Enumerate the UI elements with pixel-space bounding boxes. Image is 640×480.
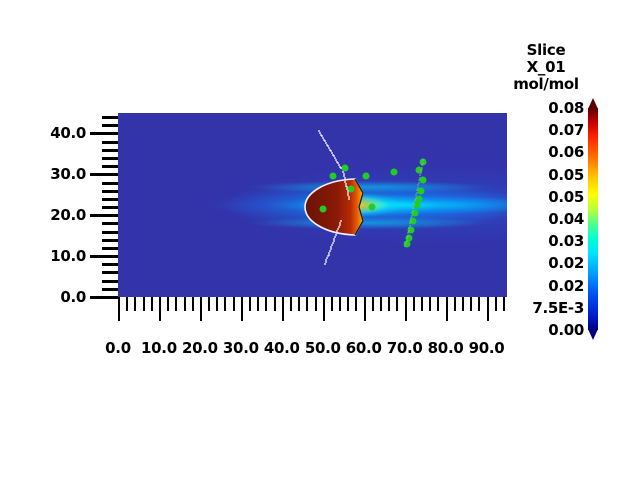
- shock-line-dot: [328, 147, 330, 149]
- y-axis-major-tick: [90, 296, 118, 299]
- y-axis-minor-tick: [102, 116, 118, 119]
- x-axis-minor-tick: [478, 297, 480, 311]
- x-axis-minor-tick: [388, 297, 390, 311]
- colorbar-gradient: [588, 108, 598, 330]
- x-axis-major-tick: [241, 297, 243, 321]
- x-axis-tick-label: 10.0: [141, 339, 177, 357]
- sample-point-marker: [368, 204, 375, 211]
- sample-point-marker: [329, 173, 336, 180]
- colorbar-tick-label: 0.07: [548, 121, 584, 139]
- y-axis-major-tick: [90, 255, 118, 258]
- shock-line-dot: [337, 162, 339, 164]
- x-axis-minor-tick: [167, 297, 169, 311]
- shock-line-dot: [322, 137, 324, 139]
- colorbar-tick-label: 0.04: [548, 210, 584, 228]
- colorbar-title-line-2: X_01: [505, 59, 587, 76]
- x-axis-minor-tick: [380, 297, 382, 311]
- x-axis-minor-tick: [257, 297, 259, 311]
- x-axis-tick-label: 50.0: [305, 339, 341, 357]
- overlay-marker-layer: [118, 113, 507, 297]
- y-axis-tick-label: 40.0: [50, 124, 86, 142]
- shock-line-dot: [332, 154, 334, 156]
- shock-line-dot: [335, 159, 337, 161]
- shock-line-dot: [339, 166, 341, 168]
- sample-point-marker: [362, 173, 369, 180]
- colorbar-title-line-1: Slice: [505, 42, 587, 59]
- sample-point-marker: [319, 206, 326, 213]
- colorbar: [586, 98, 600, 340]
- y-axis-tick-label: 10.0: [50, 247, 86, 265]
- shock-line-dot: [324, 263, 326, 265]
- x-axis-major-tick: [200, 297, 202, 321]
- y-axis-minor-tick: [102, 124, 118, 127]
- x-axis-minor-tick: [151, 297, 153, 311]
- x-axis-major-tick: [159, 297, 161, 321]
- y-axis-major-tick: [90, 214, 118, 217]
- sample-point-marker: [391, 169, 398, 176]
- y-axis-major-tick: [90, 132, 118, 135]
- shock-line-dot: [324, 140, 326, 142]
- x-axis-major-tick: [282, 297, 284, 321]
- y-axis-major-tick: [90, 173, 118, 176]
- y-axis-minor-tick: [102, 231, 118, 234]
- x-axis-tick-label: 40.0: [264, 339, 300, 357]
- colorbar-title: Slice X_01 mol/mol: [505, 42, 587, 93]
- x-axis-minor-tick: [175, 297, 177, 311]
- y-axis-minor-tick: [102, 288, 118, 291]
- y-axis-minor-tick: [102, 157, 118, 160]
- y-axis-minor-tick: [102, 165, 118, 168]
- shock-line-dot: [321, 135, 323, 137]
- x-axis-tick-label: 0.0: [105, 339, 131, 357]
- y-axis-minor-tick: [102, 239, 118, 242]
- shock-line-dot: [348, 198, 350, 200]
- x-axis-tick-label: 80.0: [428, 339, 464, 357]
- x-axis-minor-tick: [355, 297, 357, 311]
- x-axis-tick-label: 90.0: [469, 339, 505, 357]
- shock-line-dot: [320, 134, 322, 136]
- y-axis-minor-tick: [102, 182, 118, 185]
- shock-line-dot: [325, 142, 327, 144]
- colorbar-tick-label: 0.02: [548, 277, 584, 295]
- x-axis-minor-tick: [495, 297, 497, 311]
- slice-plot-area: [118, 113, 507, 297]
- colorbar-tick-label: 0.03: [548, 232, 584, 250]
- x-axis-major-tick: [364, 297, 366, 321]
- x-axis-minor-tick: [421, 297, 423, 311]
- y-axis-tick-label: 30.0: [50, 165, 86, 183]
- x-axis-minor-tick: [462, 297, 464, 311]
- shock-line-dot: [329, 149, 331, 151]
- x-axis-minor-tick: [306, 297, 308, 311]
- y-axis-minor-tick: [102, 149, 118, 152]
- x-axis-tick-label: 60.0: [346, 339, 382, 357]
- x-axis-minor-tick: [396, 297, 398, 311]
- x-axis-minor-tick: [208, 297, 210, 311]
- x-axis-major-tick: [405, 297, 407, 321]
- colorbar-tick-label: 0.00: [548, 321, 584, 339]
- x-axis-minor-tick: [126, 297, 128, 311]
- y-axis-minor-tick: [102, 271, 118, 274]
- colorbar-tick-label: 0.05: [548, 166, 584, 184]
- x-axis-minor-tick: [216, 297, 218, 311]
- colorbar-tick-label: 0.05: [548, 188, 584, 206]
- shock-line-dot: [319, 132, 321, 134]
- x-axis-minor-tick: [290, 297, 292, 311]
- shock-line-dot: [326, 144, 328, 146]
- x-axis-minor-tick: [454, 297, 456, 311]
- x-axis-minor-tick: [470, 297, 472, 311]
- x-axis-minor-tick: [315, 297, 317, 311]
- shock-line-dot: [334, 157, 336, 159]
- colorbar-title-line-3: mol/mol: [505, 76, 587, 93]
- sample-point-marker: [348, 185, 355, 192]
- x-axis-tick-label: 30.0: [223, 339, 259, 357]
- shock-line-dot: [331, 152, 333, 154]
- x-axis-minor-tick: [413, 297, 415, 311]
- x-axis-minor-tick: [143, 297, 145, 311]
- x-axis-major-tick: [323, 297, 325, 321]
- shock-line-dot: [323, 139, 325, 141]
- x-axis-minor-tick: [192, 297, 194, 311]
- y-axis-minor-tick: [102, 280, 118, 283]
- shock-line-dot: [333, 155, 335, 157]
- shock-line-dot: [318, 130, 320, 132]
- y-axis-tick-label: 0.0: [60, 288, 86, 306]
- x-axis-minor-tick: [429, 297, 431, 311]
- x-axis-major-tick: [487, 297, 489, 321]
- x-axis-minor-tick: [134, 297, 136, 311]
- x-axis-major-tick: [446, 297, 448, 321]
- rake-guide-dot: [404, 245, 406, 247]
- x-axis-minor-tick: [437, 297, 439, 311]
- y-axis-minor-tick: [102, 247, 118, 250]
- x-axis-minor-tick: [265, 297, 267, 311]
- colorbar-min-arrow-icon: [588, 329, 598, 340]
- x-axis-minor-tick: [274, 297, 276, 311]
- shock-line-dot: [340, 167, 342, 169]
- x-axis-minor-tick: [347, 297, 349, 311]
- x-axis-major-tick: [118, 297, 120, 321]
- x-axis-minor-tick: [339, 297, 341, 311]
- y-axis-tick-label: 20.0: [50, 206, 86, 224]
- x-axis-minor-tick: [249, 297, 251, 311]
- y-axis-minor-tick: [102, 263, 118, 266]
- y-axis-minor-tick: [102, 190, 118, 193]
- colorbar-tick-label: 7.5E-3: [532, 299, 584, 317]
- shock-line-dot: [336, 161, 338, 163]
- shock-line-dot: [330, 150, 332, 152]
- x-axis-minor-tick: [298, 297, 300, 311]
- x-axis-minor-tick: [233, 297, 235, 311]
- x-axis-minor-tick: [184, 297, 186, 311]
- y-axis-minor-tick: [102, 206, 118, 209]
- y-axis-minor-tick: [102, 198, 118, 201]
- shock-line-dot: [338, 164, 340, 166]
- visualization-figure: 0.010.020.030.040.050.060.070.080.090.0 …: [0, 0, 640, 480]
- shock-line-dot: [327, 145, 329, 147]
- colorbar-tick-label: 0.02: [548, 254, 584, 272]
- x-axis-tick-label: 20.0: [182, 339, 218, 357]
- y-axis-minor-tick: [102, 141, 118, 144]
- colorbar-tick-label: 0.06: [548, 143, 584, 161]
- x-axis-minor-tick: [224, 297, 226, 311]
- y-axis-minor-tick: [102, 222, 118, 225]
- x-axis-minor-tick: [372, 297, 374, 311]
- sample-point-marker: [418, 187, 425, 194]
- x-axis-minor-tick: [331, 297, 333, 311]
- x-axis-minor-tick: [503, 297, 505, 311]
- colorbar-tick-label: 0.08: [548, 99, 584, 117]
- x-axis-tick-label: 70.0: [387, 339, 423, 357]
